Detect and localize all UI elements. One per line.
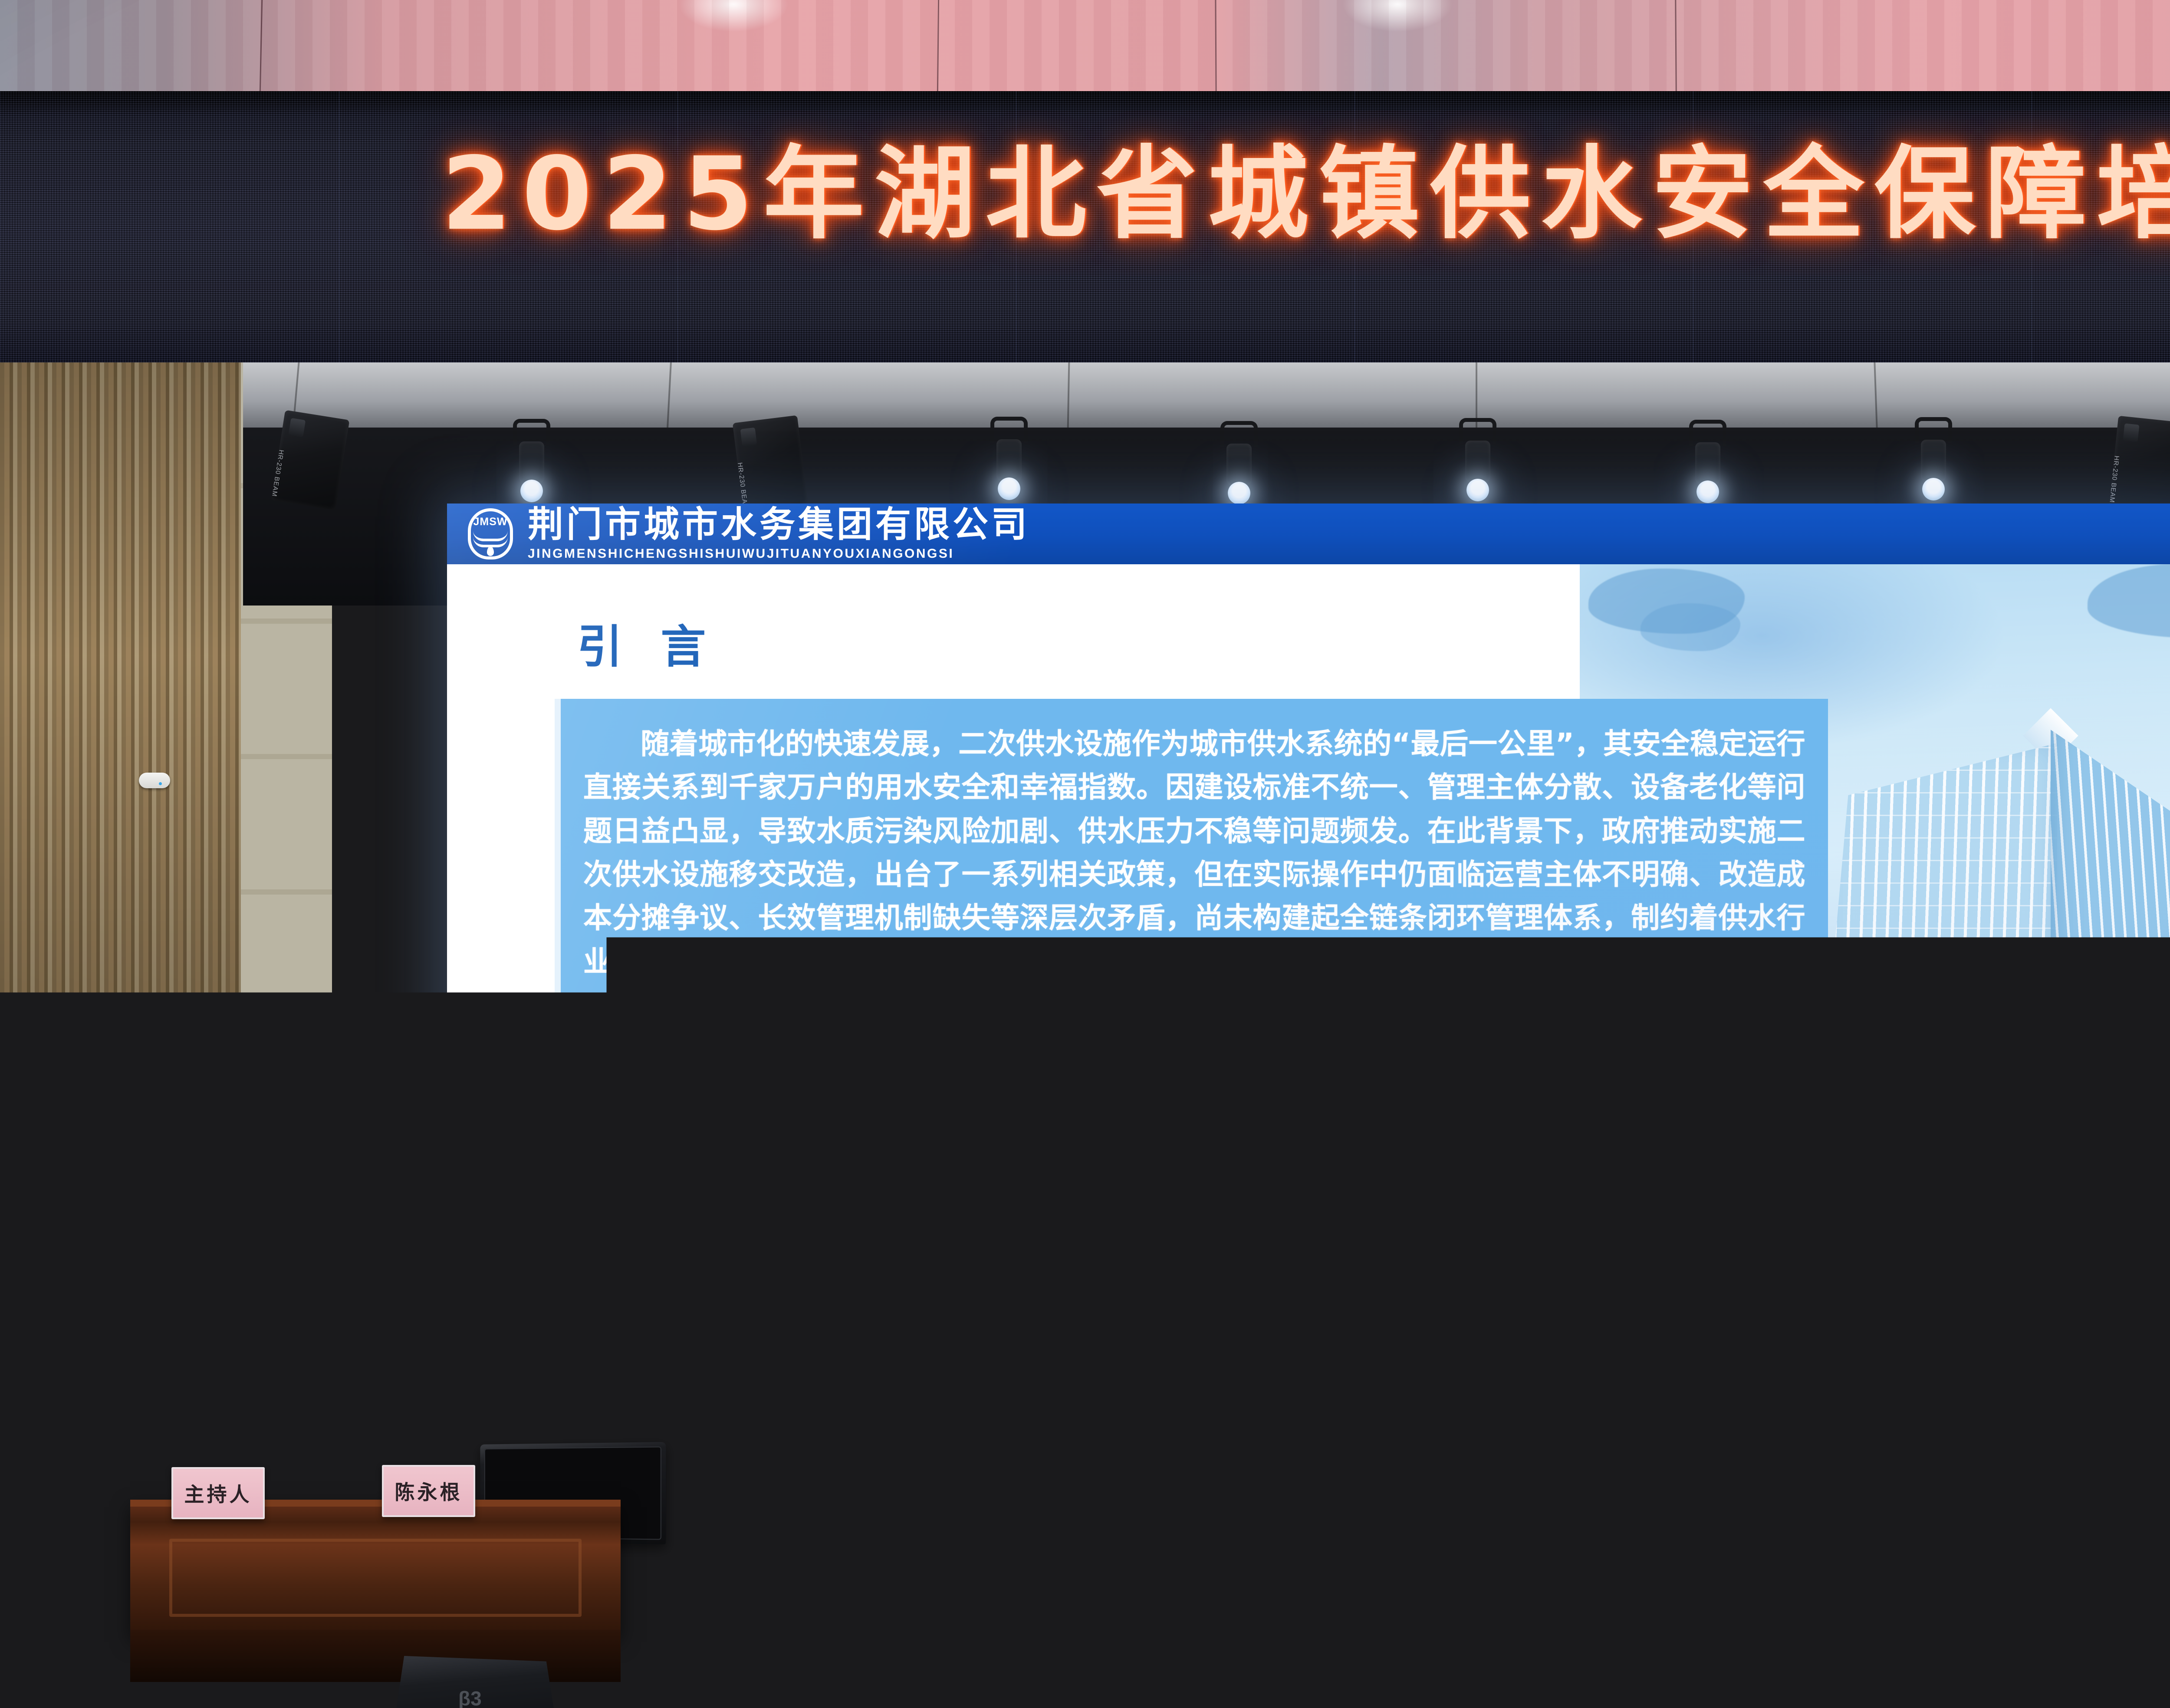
nameplate-speaker: 陈永根 bbox=[382, 1465, 475, 1517]
audience-area bbox=[0, 1604, 2170, 1708]
room-interior: HR-230 BEAM HR-230 BEAM HR-230 BEAM HR-2… bbox=[0, 362, 2170, 1708]
company-name-pinyin: JINGMENSHICHENGSHISHUIWUJITUANYOUXIANGON… bbox=[528, 546, 1030, 561]
stage-light-fixture: HR-230 BEAM bbox=[733, 415, 808, 514]
logo-text: JMSW bbox=[468, 516, 513, 528]
office-tower bbox=[1814, 721, 2170, 1194]
water-drop-mascot-icon bbox=[851, 1250, 959, 1346]
audience-head bbox=[1211, 1659, 1287, 1708]
stage-light-fixture: HR-230 BEAM bbox=[2109, 416, 2170, 513]
projection-screen: JMSW 荆门市城市水务集团有限公司 JINGMENSHICHENGSHISHU… bbox=[447, 504, 2170, 1346]
audience-head bbox=[1884, 1657, 1962, 1708]
wifi-access-point-icon bbox=[139, 773, 170, 788]
nameplate-host-label: 主持人 bbox=[184, 1479, 252, 1507]
led-banner: 2025年湖北省城镇供水安全保障培训 bbox=[0, 91, 2170, 362]
company-name-cn: 荆门市城市水务集团有限公司 bbox=[528, 507, 1030, 543]
left-wall-wood-slats bbox=[0, 362, 278, 1339]
jmsw-logo-icon: JMSW bbox=[468, 508, 513, 559]
nameplate-host: 主持人 bbox=[171, 1467, 265, 1519]
slide-body-text: 随着城市化的快速发展，二次供水设施作为城市供水系统的“最后一公里”，其安全稳定运… bbox=[583, 722, 1805, 984]
audience-head bbox=[1549, 1656, 1627, 1708]
auditorium-scene: 2025年湖北省城镇供水安全保障培训 HR-230 BEAM bbox=[0, 0, 2170, 1708]
ceiling-lighting bbox=[0, 0, 2170, 91]
slide-title: 引 言 bbox=[577, 610, 717, 675]
slide-body-textbox: 随着城市化的快速发展，二次供水设施作为城市供水系统的“最后一公里”，其安全稳定运… bbox=[561, 699, 1828, 1172]
audience-head bbox=[167, 1656, 243, 1708]
slide-header-bar: JMSW 荆门市城市水务集团有限公司 JINGMENSHICHENGSHISHU… bbox=[447, 504, 2170, 564]
truss-ceiling-panels bbox=[243, 362, 2170, 428]
nameplate-speaker-label: 陈永根 bbox=[395, 1477, 463, 1505]
banner-title: 2025年湖北省城镇供水安全保障培训 bbox=[0, 112, 2170, 258]
auditorium-seat[interactable] bbox=[0, 1682, 117, 1708]
audience-head bbox=[872, 1655, 950, 1708]
audience-head bbox=[538, 1658, 616, 1708]
